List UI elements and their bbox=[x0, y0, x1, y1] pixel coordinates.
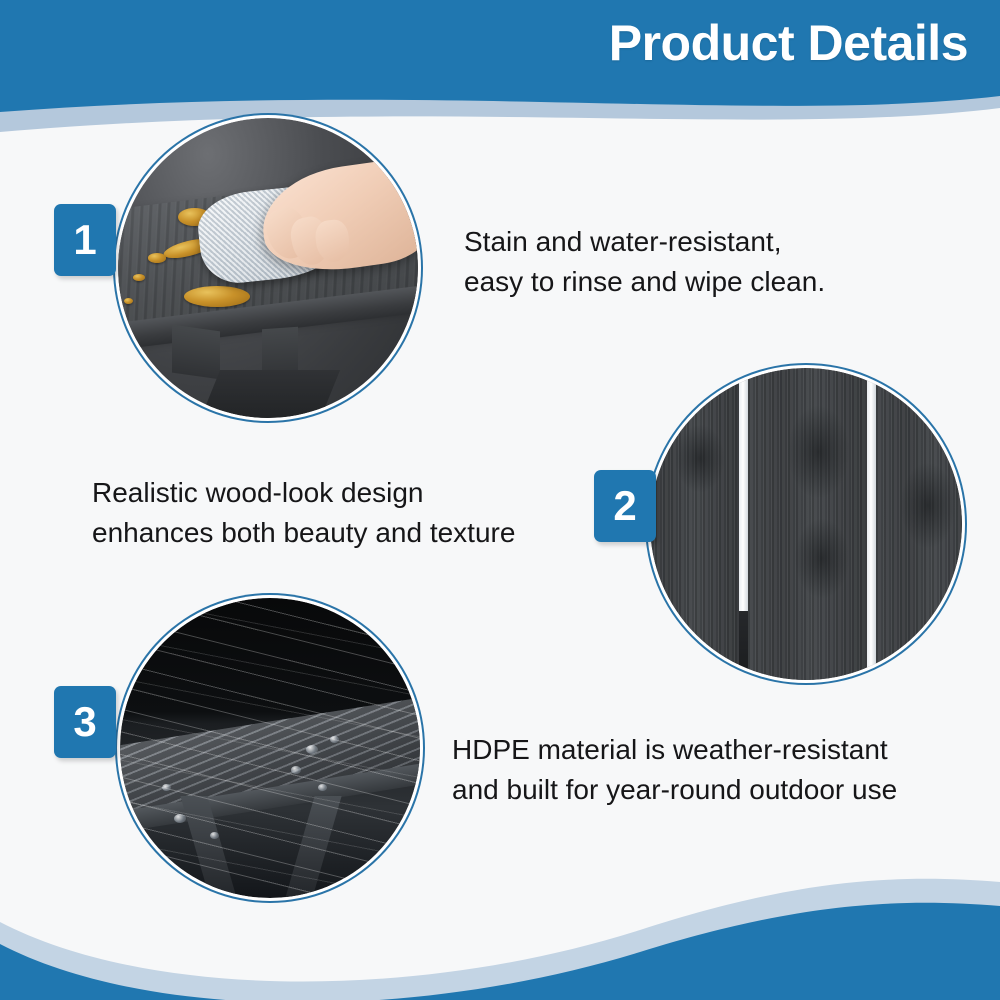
page-title: Product Details bbox=[609, 14, 968, 72]
feature-number-badge-1: 1 bbox=[54, 204, 116, 276]
spill-stain bbox=[124, 298, 133, 304]
water-droplet bbox=[306, 745, 318, 754]
product-details-infographic: Product Details bbox=[0, 0, 1000, 1000]
hand-wiping-spill-on-table-photo bbox=[118, 118, 418, 418]
feature-text-3: HDPE material is weather-resistant and b… bbox=[452, 730, 897, 810]
slat-gap bbox=[867, 368, 876, 680]
wood-knot bbox=[787, 405, 849, 499]
spill-stain bbox=[148, 253, 166, 263]
feature-text-1: Stain and water-resistant, easy to rinse… bbox=[464, 222, 825, 302]
wood-knot bbox=[900, 462, 956, 549]
wood-slat bbox=[650, 368, 737, 680]
water-droplet bbox=[291, 766, 301, 774]
feature-image-2 bbox=[650, 368, 962, 680]
feature-text-2: Realistic wood-look design enhances both… bbox=[92, 473, 515, 553]
table-in-rain-at-night-photo bbox=[120, 598, 420, 898]
wood-grain-slat-closeup-photo bbox=[650, 368, 962, 680]
rain-streaks bbox=[120, 598, 420, 898]
wood-knot bbox=[675, 424, 725, 493]
wood-knot bbox=[794, 518, 850, 599]
feature-image-2-frame bbox=[650, 368, 962, 680]
water-droplet bbox=[318, 784, 327, 791]
feature-image-1 bbox=[118, 118, 418, 418]
water-droplet bbox=[174, 814, 186, 823]
slat-gap-shadow bbox=[739, 611, 748, 680]
feature-number-badge-3: 3 bbox=[54, 686, 116, 758]
table-leg bbox=[172, 325, 220, 380]
footer-blue-band bbox=[0, 903, 1000, 1000]
spill-stain bbox=[184, 286, 250, 307]
feature-image-3-frame bbox=[120, 598, 420, 898]
table-base bbox=[196, 370, 340, 418]
feature-image-1-frame bbox=[118, 118, 418, 418]
feature-number-badge-2: 2 bbox=[594, 470, 656, 542]
feature-image-3 bbox=[120, 598, 420, 898]
